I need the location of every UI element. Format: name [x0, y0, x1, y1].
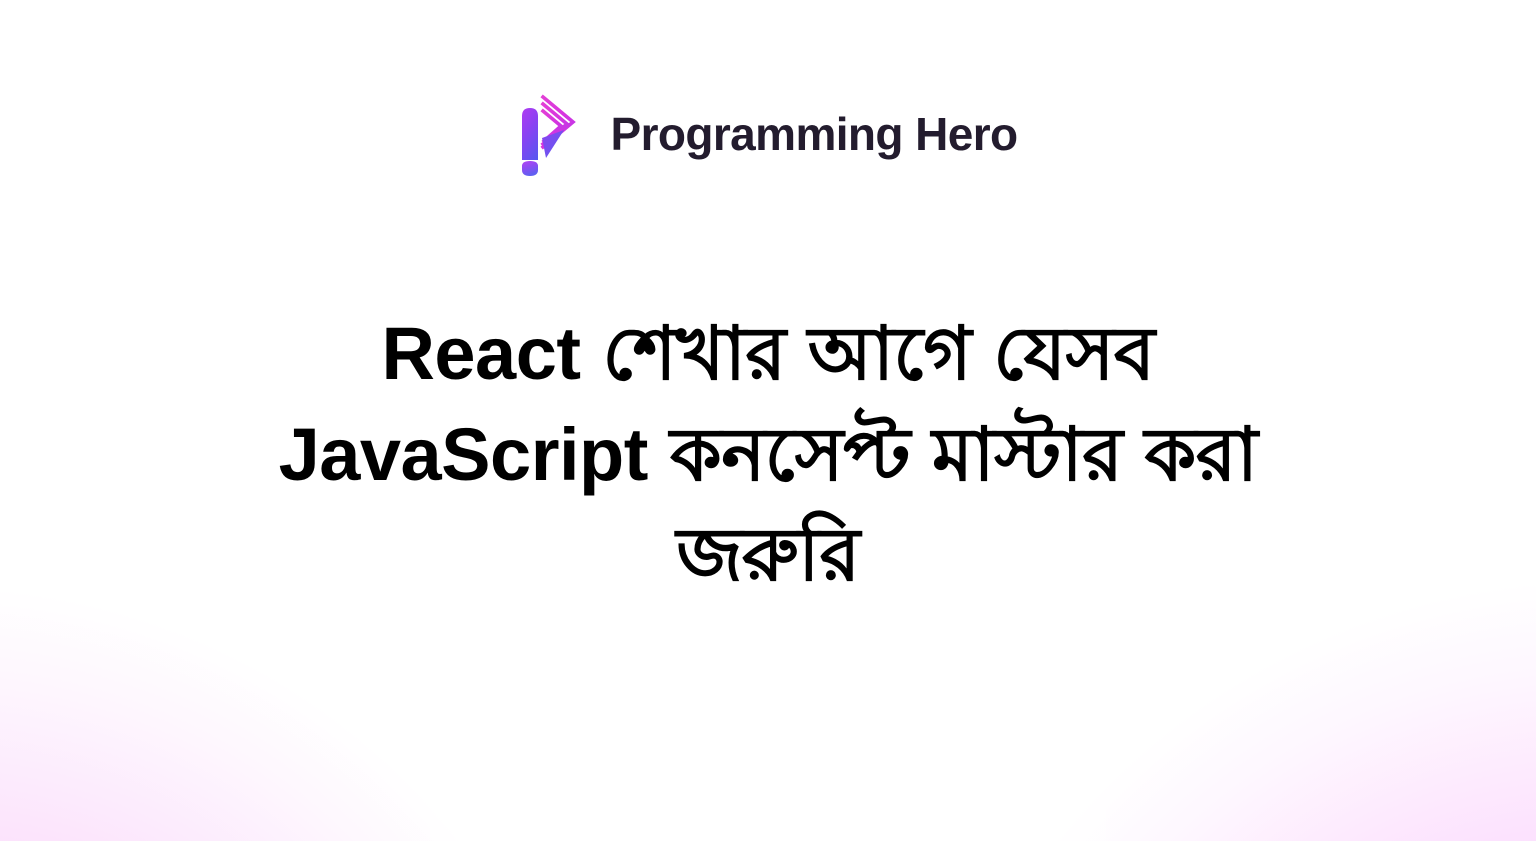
programming-hero-play-logo-icon — [518, 86, 584, 182]
headline-region: React শেখার আগে যেসব JavaScript কনসেপ্ট … — [0, 268, 1536, 841]
blog-cover-canvas: Programming Hero React শেখার আগে যেসব Ja… — [0, 0, 1536, 841]
brand-header: Programming Hero — [0, 0, 1536, 268]
page-title-line-2: JavaScript কনসেপ্ট মাস্টার করা — [178, 405, 1358, 506]
brand-name-label: Programming Hero — [610, 111, 1017, 157]
page-title-line-1: React শেখার আগে যেসব — [178, 304, 1358, 405]
page-title: React শেখার আগে যেসব JavaScript কনসেপ্ট … — [178, 304, 1358, 606]
page-title-line-3: জরুরি — [178, 505, 1358, 606]
